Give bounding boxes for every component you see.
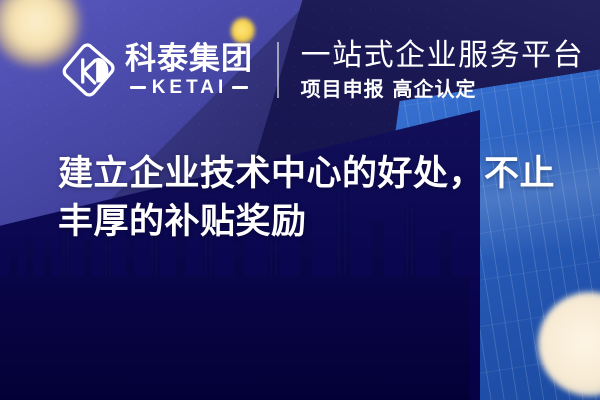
logo-english-row: KETAI — [125, 78, 253, 97]
headline-line-2: 丰厚的补贴奖励 — [58, 198, 558, 246]
banner-header: 科泰集团 KETAI 一站式企业服务平台 项目申报 高企认定 — [0, 0, 600, 140]
promo-banner: 科泰集团 KETAI 一站式企业服务平台 项目申报 高企认定 建立企业技术中心的… — [0, 0, 600, 400]
headline-line-1: 建立企业技术中心的好处，不止 — [58, 150, 558, 198]
ketai-logo: 科泰集团 KETAI — [62, 42, 253, 98]
slogan-main: 一站式企业服务平台 — [301, 39, 585, 73]
logo-company-cn: 科泰集团 — [125, 43, 253, 76]
slogan-sub: 项目申报 高企认定 — [301, 76, 585, 102]
logo-left-dash-icon — [130, 86, 146, 89]
slogan-block: 一站式企业服务平台 项目申报 高企认定 — [301, 39, 585, 102]
logo-wordmark: 科泰集团 KETAI — [125, 43, 253, 97]
ketai-diamond-k-logo-icon — [62, 42, 116, 98]
header-divider — [277, 42, 279, 98]
logo-company-en: KETAI — [152, 78, 228, 97]
headline: 建立企业技术中心的好处，不止 丰厚的补贴奖励 — [58, 150, 558, 246]
logo-right-dash-icon — [232, 86, 248, 89]
